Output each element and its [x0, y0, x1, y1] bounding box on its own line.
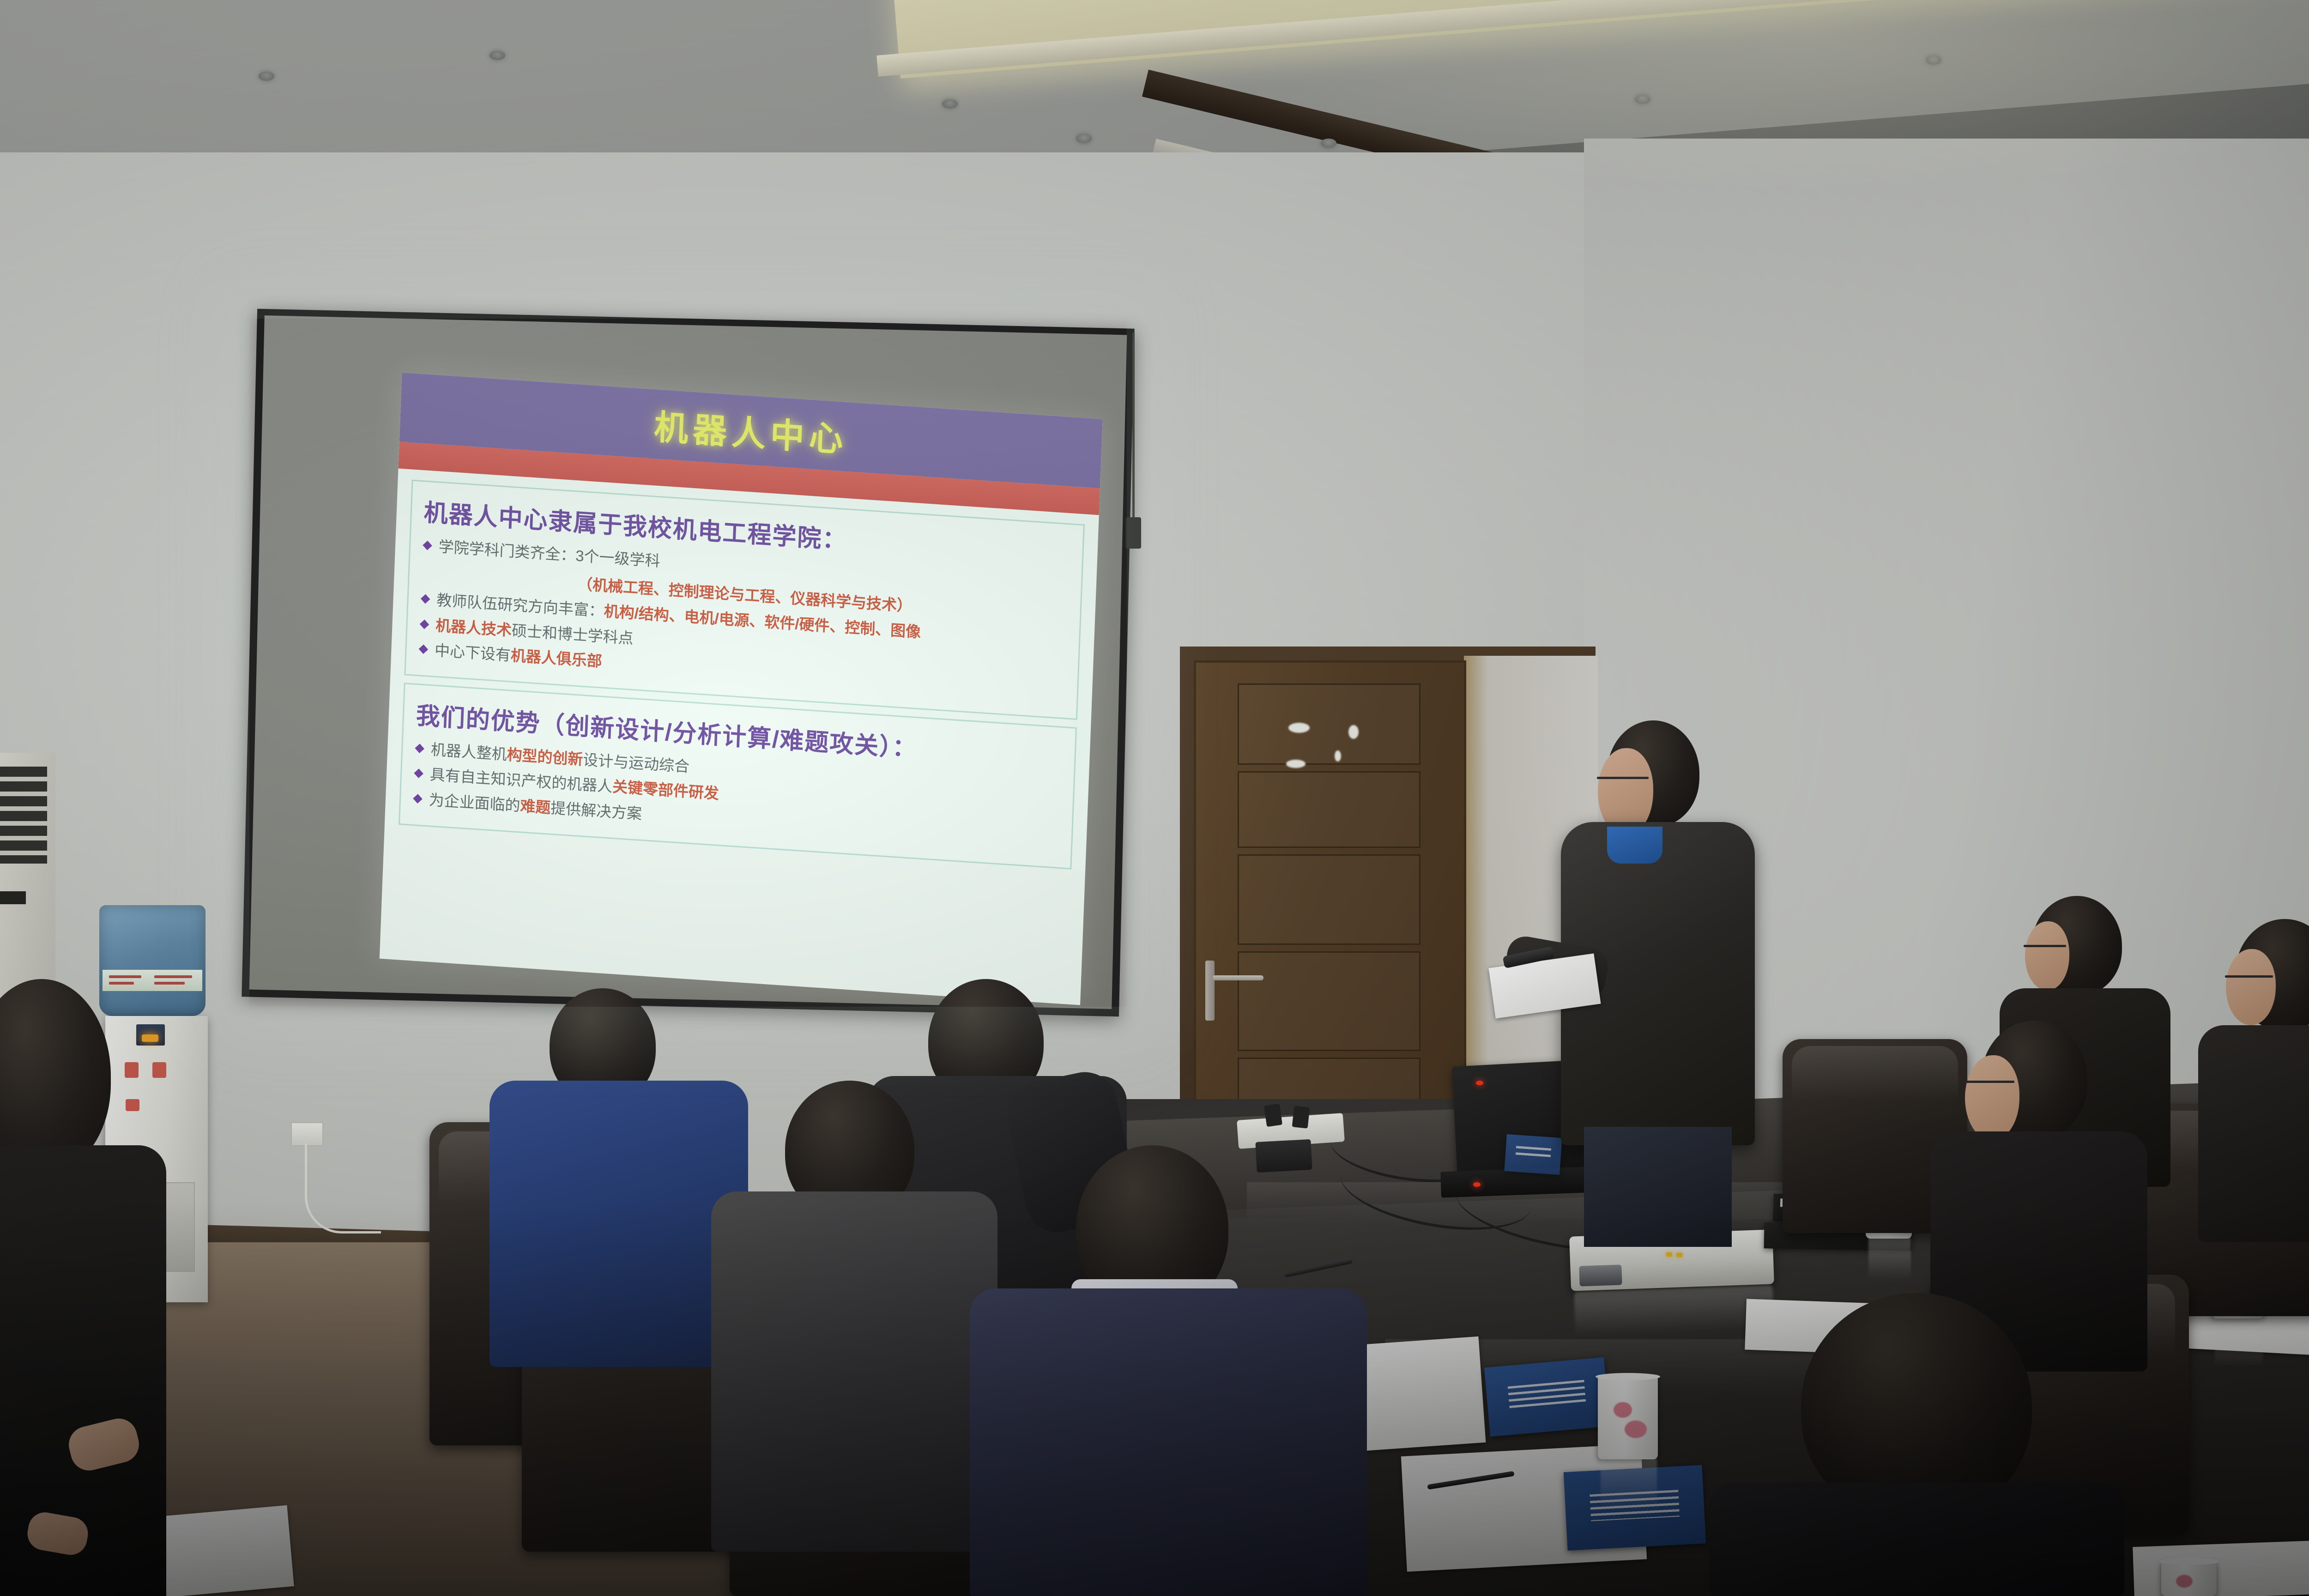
downlight-icon [490, 51, 505, 60]
bullet-text: 为企业面临的 [429, 790, 520, 815]
wall-outlet[interactable] [291, 1122, 323, 1146]
meeting-room-photo: 机器人中心 机器人中心隶属于我校机电工程学院： ◆ 学院学科门类齐全：3个一级学… [0, 0, 2309, 1596]
presenter-trousers [1584, 1127, 1732, 1247]
glasses-icon [2225, 975, 2273, 978]
brochure[interactable] [1504, 1134, 1562, 1175]
power-led-icon [142, 1034, 158, 1042]
door-panel [1238, 854, 1420, 945]
downlight-icon [1076, 134, 1092, 143]
downlight-icon [1321, 139, 1336, 148]
bullet-icon: ◆ [420, 590, 430, 607]
attendee-body [2198, 1025, 2309, 1242]
paint-mark [1286, 760, 1306, 768]
paper-cup[interactable] [2161, 1561, 2217, 1596]
downlight-icon [1635, 95, 1650, 104]
laptop-power-led-icon [1476, 1081, 1483, 1085]
glasses-icon [1597, 777, 1649, 779]
cup-reflection [1601, 1457, 1657, 1512]
attendee-face [2226, 949, 2276, 1025]
downlight-icon [259, 72, 274, 81]
door-handle-plate[interactable] [1205, 961, 1215, 1021]
cup-floral-print [1625, 1421, 1647, 1438]
water-tap-third[interactable] [126, 1099, 139, 1111]
screen-cable [1132, 332, 1135, 526]
door-panel [1238, 683, 1420, 765]
glasses-icon [2024, 945, 2066, 947]
paint-mark [1288, 723, 1310, 733]
water-bottle [99, 905, 206, 1016]
bullet-accent-text: 机器人俱乐部 [510, 646, 602, 671]
bullet-icon: ◆ [423, 536, 433, 553]
air-conditioner-vent [0, 767, 47, 864]
projector-lens [1579, 1264, 1622, 1286]
water-bottle-label [103, 970, 202, 991]
slide-body: 机器人中心隶属于我校机电工程学院： ◆ 学院学科门类齐全：3个一级学科 （机械工… [385, 469, 1099, 871]
bullet-icon: ◆ [418, 640, 429, 657]
cup-floral-print [1614, 1402, 1632, 1418]
water-tap-cold[interactable] [152, 1062, 166, 1078]
attendee-face [2025, 921, 2069, 991]
attendee-body-foreground-right [1709, 1482, 2124, 1596]
paint-mark [1335, 750, 1341, 762]
slide-panel-1: 机器人中心隶属于我校机电工程学院： ◆ 学院学科门类齐全：3个一级学科 （机械工… [404, 480, 1085, 720]
door-panel [1238, 771, 1420, 848]
door-handle[interactable] [1213, 975, 1263, 980]
projector-led-icon [1676, 1253, 1682, 1257]
bullet-text: 中心下设有 [434, 641, 511, 665]
bullet-accent-text: 关键零部件研发 [612, 777, 719, 804]
downlight-icon [942, 99, 958, 109]
door-panel [1238, 951, 1420, 1051]
laptop-status-led-icon [1473, 1182, 1481, 1187]
projector-led-icon [1666, 1252, 1672, 1257]
presentation-slide: 机器人中心 机器人中心隶属于我校机电工程学院： ◆ 学院学科门类齐全：3个一级学… [380, 373, 1103, 1005]
plug-icon [1292, 1106, 1310, 1128]
bullet-accent-text: 构型的创新 [507, 745, 583, 769]
brochure[interactable] [1484, 1357, 1610, 1437]
projector-reflection [1574, 1285, 1774, 1336]
bullet-icon: ◆ [419, 615, 429, 632]
bullet-accent-text: 机器人技术 [435, 616, 512, 640]
bullet-accent-text: 难题 [520, 796, 551, 817]
bullet-icon: ◆ [415, 739, 425, 756]
cup-floral-print [2176, 1575, 2193, 1588]
attendee-body-gray-jacket [711, 1191, 997, 1552]
attendee-face [1965, 1055, 2019, 1141]
attendee-body-navy-suit [970, 1288, 1367, 1596]
cup-reflection [1868, 1236, 1911, 1280]
glasses-icon [1963, 1081, 2014, 1083]
power-adapter [1255, 1139, 1312, 1173]
bullet-icon: ◆ [412, 789, 423, 806]
projection-screen-frame: 机器人中心 机器人中心隶属于我校机电工程学院： ◆ 学院学科门类齐全：3个一级学… [242, 309, 1134, 1017]
bullet-text: 教师队伍研究方向丰富： [436, 591, 604, 621]
bullet-icon: ◆ [414, 764, 424, 781]
cup-reflection [2215, 1316, 2263, 1367]
downlight-icon [1926, 55, 1941, 65]
power-cord [305, 1143, 381, 1233]
projection-screen-surface: 机器人中心 机器人中心隶属于我校机电工程学院： ◆ 学院学科门类齐全：3个一级学… [249, 315, 1127, 1009]
bullet-tail-text: 设计与运动综合 [583, 750, 690, 776]
water-tap-hot[interactable] [125, 1062, 139, 1078]
paint-mark [1348, 725, 1359, 739]
screen-cable-weight [1125, 517, 1141, 549]
plug-icon [1264, 1104, 1282, 1127]
chair-highlight [1792, 1046, 1958, 1101]
air-conditioner-button[interactable] [0, 891, 26, 904]
slide-title: 机器人中心 [653, 399, 849, 462]
bullet-tail-text: 提供解决方案 [550, 798, 642, 823]
bullet-text: 机器人整机 [430, 740, 507, 764]
presenter-shirt-collar [1607, 827, 1662, 864]
paper-cup[interactable] [1598, 1376, 1658, 1459]
paper-document[interactable] [2133, 1538, 2309, 1596]
bullet-tail-text: 硕士和博士学科点 [511, 621, 634, 648]
attendee-body-blue-jacket [490, 1081, 748, 1367]
